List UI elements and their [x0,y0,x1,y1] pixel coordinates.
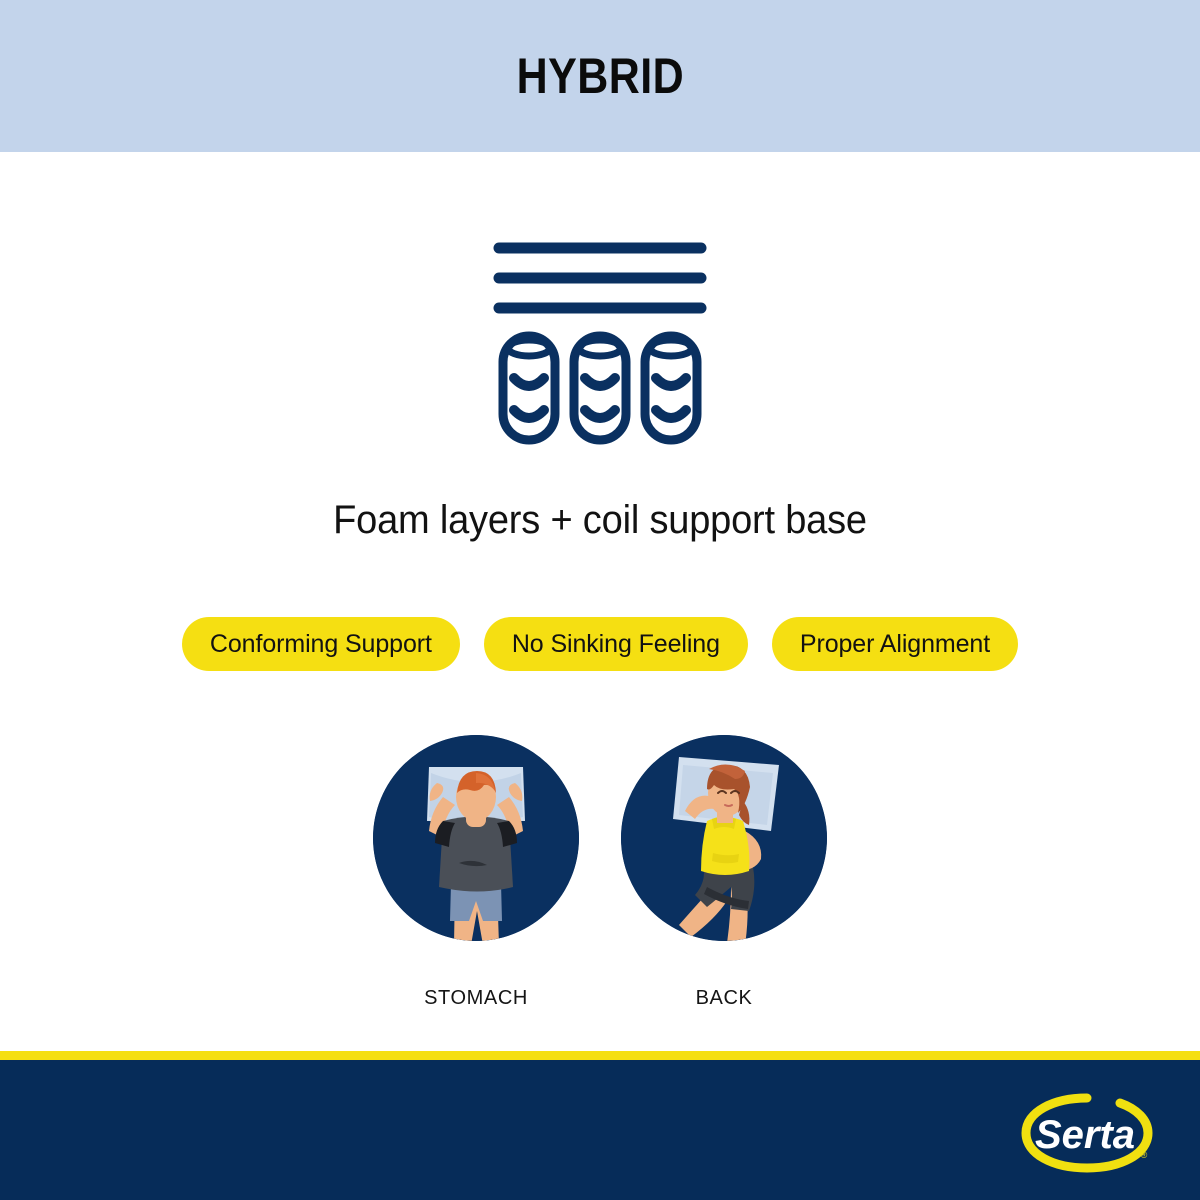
sleep-position-stomach[interactable]: STOMACH [373,735,579,1010]
sleep-position-label-stomach: STOMACH [424,987,528,1010]
benefit-pill-row: Conforming Support No Sinking Feeling Pr… [50,617,1150,671]
serta-wordmark: Serta [1035,1113,1135,1157]
infographic-page: HYBRID [0,0,1200,1200]
hybrid-mattress-layers-coils-icon [485,220,715,450]
footer-yellow-stripe [0,1051,1200,1060]
benefit-pill-proper-alignment[interactable]: Proper Alignment [772,617,1018,671]
sleep-position-label-back: BACK [696,987,753,1010]
hybrid-icon-container [0,215,1200,455]
registered-trademark-icon: ® [1141,1150,1148,1160]
sleep-position-back[interactable]: BACK [621,735,827,1010]
benefit-pill-no-sinking-feeling[interactable]: No Sinking Feeling [484,617,748,671]
serta-logo[interactable]: Serta ® [1012,1090,1162,1176]
coil-2 [574,336,626,440]
coil-1 [503,336,555,440]
mouth [725,805,732,806]
back-sleeper-circle [621,735,827,941]
back-sleeper-illustration [621,735,827,941]
stomach-sleeper-circle [373,735,579,941]
header-band: HYBRID [0,0,1200,152]
coil-3 [645,336,697,440]
stomach-sleeper-illustration [373,735,579,941]
construction-description: Foam layers + coil support base [30,498,1170,543]
page-title: HYBRID [516,51,683,101]
benefit-pill-conforming-support[interactable]: Conforming Support [182,617,460,671]
sleep-position-row: STOMACH [0,735,1200,1010]
